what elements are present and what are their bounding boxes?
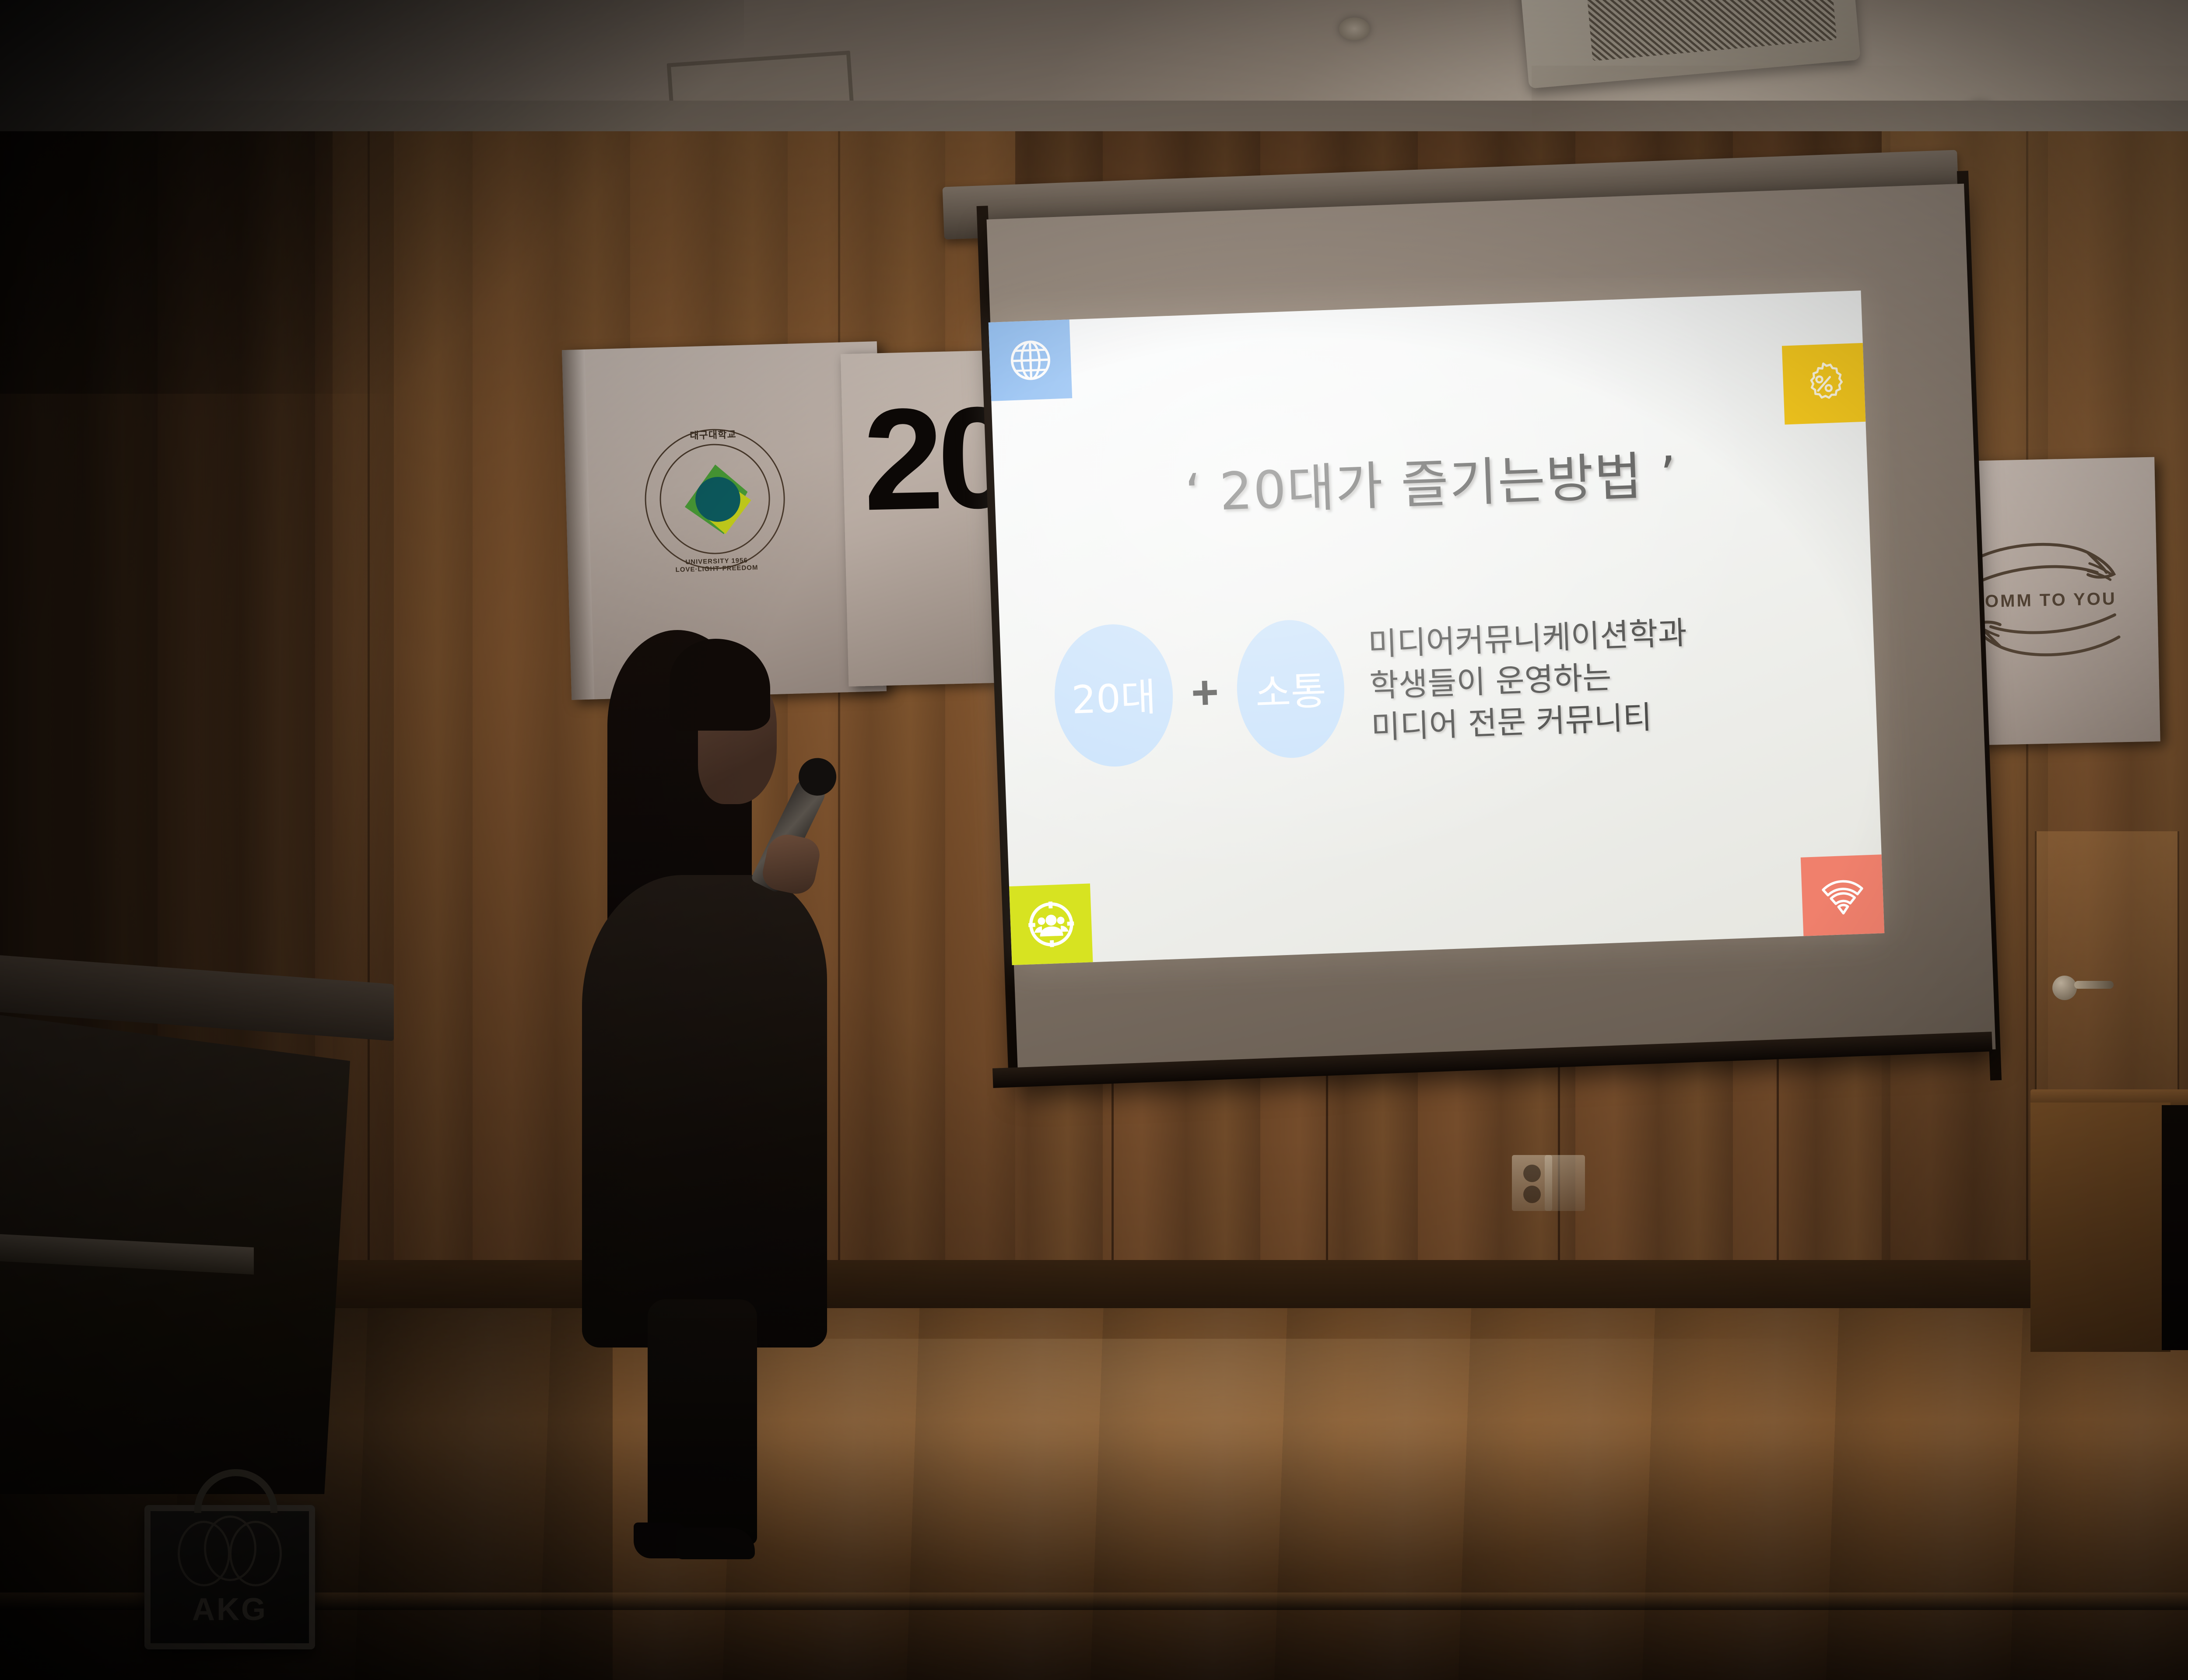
ceiling-light-icon <box>1339 17 1370 40</box>
seal-text-top: 대구대학교 <box>643 425 783 443</box>
presenter-shoe-right <box>676 1528 755 1559</box>
microphone-head <box>792 752 843 802</box>
presenter-silhouette <box>582 630 897 1557</box>
corner-top-left <box>989 319 1072 401</box>
outlet-socket-bottom <box>1523 1186 1541 1203</box>
akg-brand-label: AKG <box>151 1511 309 1643</box>
corner-bottom-right <box>1801 854 1884 936</box>
presenter-fringe <box>670 639 770 731</box>
slide-description: 미디어커뮤니케이션학과 학생들이 운영하는 미디어 전문 커뮤니티 <box>1367 612 1691 749</box>
seal-text-bottom: UNIVERSITY 1956 LOVE·LIGHT·FREEDOM <box>646 556 787 574</box>
presenter-legs <box>648 1299 757 1544</box>
plus-operator: + <box>1184 668 1226 716</box>
lectern-podium <box>0 969 411 1494</box>
percent-badge-icon <box>1799 358 1849 409</box>
corner-top-right <box>1782 343 1865 425</box>
wooden-side-table <box>2030 1089 2188 1365</box>
daegu-university-seal-icon: 대구대학교 UNIVERSITY 1956 LOVE·LIGHT·FREEDOM <box>643 427 787 571</box>
table-left-panel <box>2030 1102 2170 1352</box>
auditorium-presentation-scene: 대구대학교 UNIVERSITY 1956 LOVE·LIGHT·FREEDOM… <box>0 0 2188 1680</box>
slide-title: ‘ 20대가 즐기는방법 ’ <box>993 426 1869 533</box>
seal-emblem-icon <box>673 457 759 542</box>
slide-body: 20대 + 소통 미디어커뮤니케이션학과 학생들이 운영하는 미디어 전문 커뮤… <box>1052 598 1827 769</box>
door-knob-icon[interactable] <box>2052 976 2077 1000</box>
ac-vent-grille <box>1585 0 1837 61</box>
wifi-icon <box>1816 869 1869 921</box>
table-under-shadow <box>2162 1105 2188 1350</box>
door-lever-handle-icon[interactable] <box>2074 981 2114 989</box>
presentation-slide: ‘ 20대가 즐기는방법 ’ 20대 + 소통 미디어커뮤니케이션학과 학생들이… <box>989 290 1885 965</box>
bubble-20dae: 20대 <box>1052 622 1175 769</box>
wall-plate[interactable] <box>1545 1155 1585 1211</box>
corner-bottom-left <box>1009 883 1093 965</box>
presenter-body <box>582 875 827 1347</box>
target-users-icon <box>1024 897 1078 952</box>
stage-edge <box>0 1592 2188 1610</box>
bubble-sotong: 소통 <box>1234 618 1346 760</box>
globe-icon <box>1005 336 1055 385</box>
outlet-socket-top <box>1523 1165 1541 1182</box>
akg-microphone-case: AKG <box>144 1505 315 1649</box>
